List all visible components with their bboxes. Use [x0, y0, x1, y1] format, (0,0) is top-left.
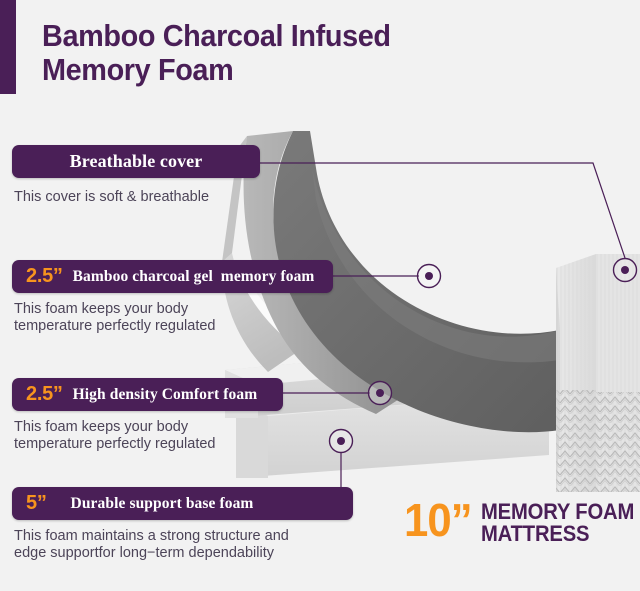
badge-durable-support-base-foam[interactable]: 5” Durable support base foam [12, 487, 353, 520]
size-words-line-2: MATTRESS [481, 523, 634, 545]
title-line-1: Bamboo Charcoal Infused [42, 19, 507, 53]
infographic-root: Bamboo Charcoal Infused Memory Foam [0, 0, 640, 591]
size-number: 10” [404, 500, 472, 540]
title-line-2: Memory Foam [42, 53, 507, 87]
badge-bamboo-charcoal-gel[interactable]: 2.5” Bamboo charcoal gel memory foam [12, 260, 333, 293]
badge-label: High density Comfort foam [73, 386, 258, 404]
size-words-line-1: MEMORY FOAM [481, 501, 634, 523]
marker-cover [614, 259, 637, 282]
badge-breathable-cover[interactable]: Breathable cover [12, 145, 260, 178]
badge-high-density-comfort-foam[interactable]: 2.5” High density Comfort foam [12, 378, 283, 411]
size-callout: 10” MEMORY FOAM MATTRESS [404, 500, 640, 545]
description-breathable-cover: This cover is soft & breathable [14, 189, 209, 206]
size-words: MEMORY FOAM MATTRESS [481, 501, 640, 545]
badge-thickness: 5” [26, 492, 47, 515]
layer-memory-foam-sheet [240, 286, 538, 403]
marker-comfort [369, 382, 392, 405]
badge-label: Breathable cover [70, 151, 203, 172]
page-title: Bamboo Charcoal Infused Memory Foam [42, 19, 542, 87]
accent-bar [0, 0, 16, 94]
badge-thickness: 2.5” [26, 265, 63, 288]
description-durable-support-base-foam: This foam maintains a strong structure a… [14, 528, 289, 562]
badge-thickness: 2.5” [26, 383, 63, 406]
marker-dots [330, 259, 637, 453]
leader-line-cover [260, 163, 625, 258]
leader-lines [260, 163, 625, 487]
badge-label: Bamboo charcoal gel memory foam [73, 268, 315, 286]
fabric-side-panel [556, 254, 640, 492]
marker-base [330, 430, 353, 453]
cover-shading [312, 168, 560, 362]
description-high-density-comfort-foam: This foam keeps your body temperature pe… [14, 419, 216, 453]
description-bamboo-charcoal-gel: This foam keeps your body temperature pe… [14, 301, 216, 335]
marker-bamboo [418, 265, 441, 288]
badge-label: Durable support base foam [71, 495, 254, 513]
